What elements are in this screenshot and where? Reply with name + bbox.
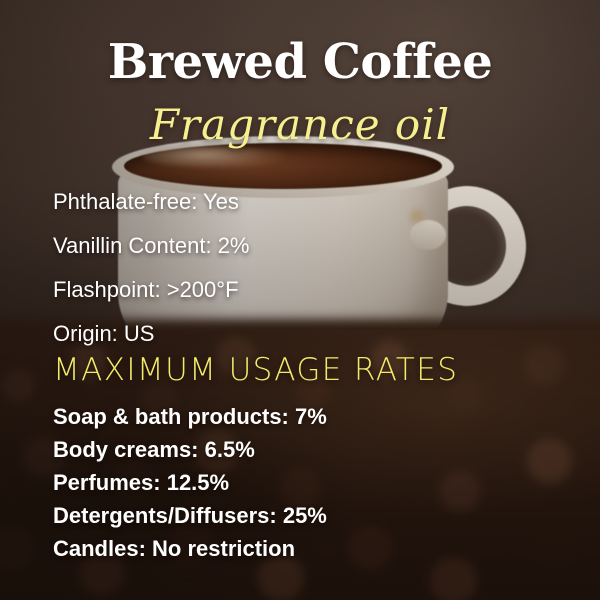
spec-item: Flashpoint: >200°F xyxy=(53,268,523,312)
usage-rate-list: Soap & bath products: 7% Body creams: 6.… xyxy=(53,400,553,565)
spec-item: Vanillin Content: 2% xyxy=(53,224,523,268)
product-subtitle: Fragrance oil xyxy=(0,100,600,149)
usage-rate-item: Body creams: 6.5% xyxy=(53,433,553,466)
card-content: Brewed Coffee Fragrance oil Phthalate-fr… xyxy=(0,0,600,600)
spec-item: Origin: US xyxy=(53,312,523,356)
spec-item: Phthalate-free: Yes xyxy=(53,180,523,224)
product-info-card: Brewed Coffee Fragrance oil Phthalate-fr… xyxy=(0,0,600,600)
usage-rate-item: Soap & bath products: 7% xyxy=(53,400,553,433)
product-title: Brewed Coffee xyxy=(0,34,600,90)
maximum-usage-rates-heading: MAXIMUM USAGE RATES xyxy=(53,352,458,388)
usage-rate-item: Detergents/Diffusers: 25% xyxy=(53,499,553,532)
usage-rate-item: Candles: No restriction xyxy=(53,532,553,565)
usage-rate-item: Perfumes: 12.5% xyxy=(53,466,553,499)
spec-list: Phthalate-free: Yes Vanillin Content: 2%… xyxy=(53,180,523,356)
